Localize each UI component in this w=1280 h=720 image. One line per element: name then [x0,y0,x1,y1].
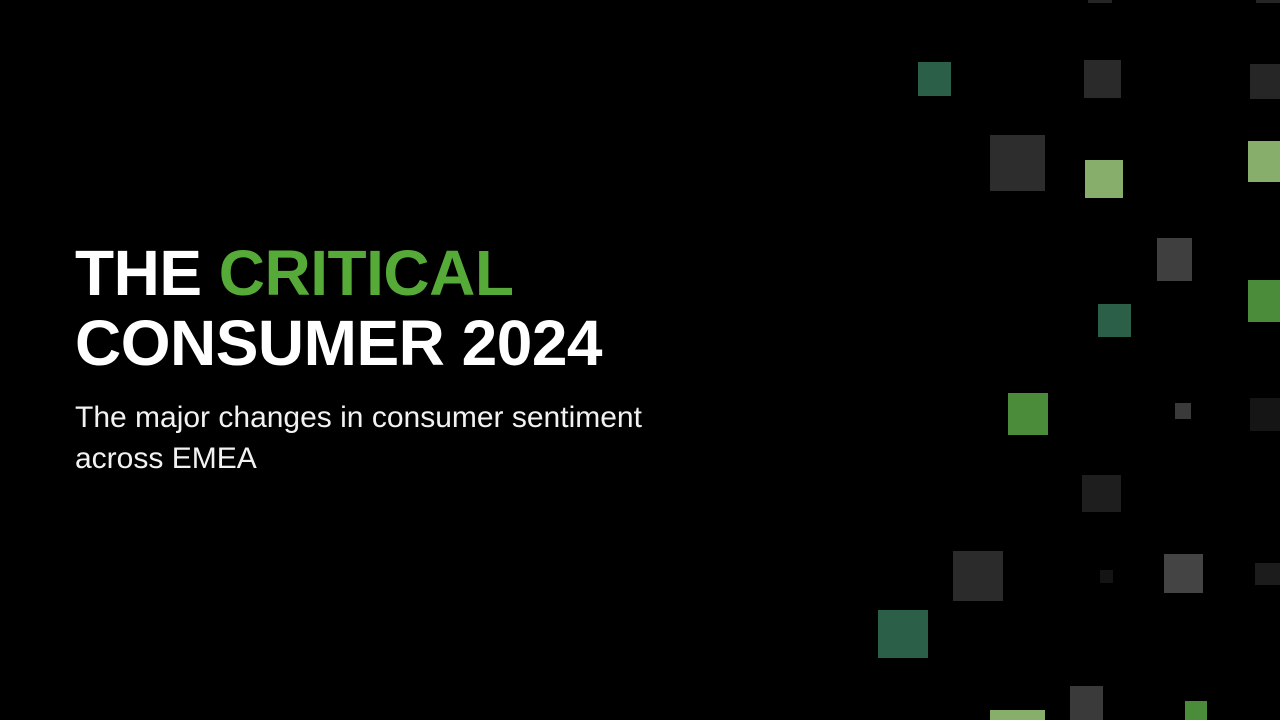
mosaic-tile [918,62,951,96]
title-prefix: THE [75,237,219,309]
mosaic-tile [1248,141,1280,182]
mosaic-tile [1085,160,1123,198]
mosaic-tile [1070,686,1103,720]
mosaic-tile [1255,563,1280,585]
mosaic-tile [1250,64,1280,99]
mosaic-tile [1164,554,1203,593]
mosaic-tile [878,610,928,658]
mosaic-tile [1082,475,1121,512]
mosaic-tile [990,135,1045,191]
mosaic-tile [990,710,1045,720]
subtitle-line-1: The major changes in consumer sentiment [75,397,735,438]
mosaic-tile [1098,304,1131,337]
mosaic-tile [1250,398,1280,431]
page-subtitle: The major changes in consumer sentiment … [75,378,735,479]
mosaic-tile [1248,280,1280,322]
mosaic-tile [1100,570,1113,583]
title-slide: THE CRITICAL CONSUMER 2024 The major cha… [0,0,1280,720]
title-accent-word: CRITICAL [219,237,514,309]
mosaic-tile [1185,701,1207,720]
mosaic-tile [1088,0,1112,3]
mosaic-tile [1157,238,1192,281]
title-line-1: THE CRITICAL [75,238,835,308]
title-block: THE CRITICAL CONSUMER 2024 The major cha… [75,238,835,479]
page-title: THE CRITICAL CONSUMER 2024 [75,238,835,378]
subtitle-line-2: across EMEA [75,438,735,479]
title-line-2: CONSUMER 2024 [75,308,835,378]
mosaic-tile [1175,403,1191,419]
mosaic-tile [953,551,1003,601]
mosaic-tile [1084,60,1121,98]
mosaic-tile [1008,393,1048,435]
mosaic-tile [1256,0,1280,3]
